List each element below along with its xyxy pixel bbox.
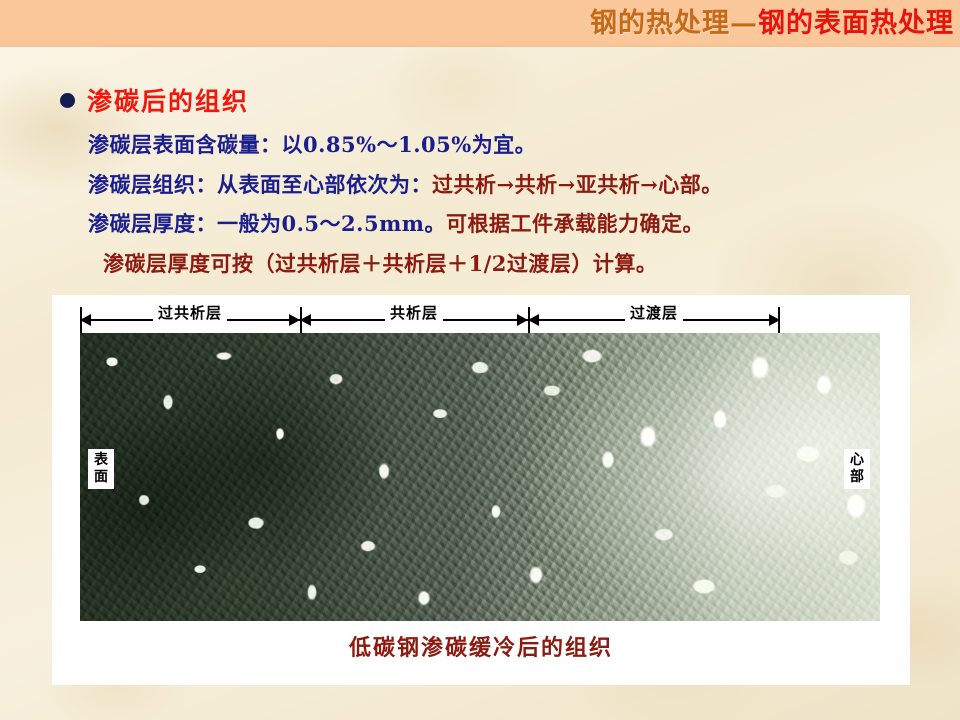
filled-circle-bullet-icon [60,93,75,108]
ruler-segment-hypereutectoid: 过共析层 [80,301,300,333]
micrograph-grain-overlay [80,333,880,621]
section-heading-label: 渗碳后的组织 [87,82,249,118]
micrograph-label-core-char2: 部 [846,469,868,486]
ruler-tick [300,307,302,333]
page-title-topic: 钢的热处理— [590,8,758,39]
body-line-4-red: 渗碳层厚度可按（过共析层＋共析层＋1/2过渡层）计算。 [103,251,657,276]
ruler-segment-eutectoid: 共析层 [300,301,528,333]
body-line-2: 渗碳层组织：从表面至心部依次为：过共析→共析→亚共析→心部。 [88,174,723,195]
body-line-1-blue: 渗碳层表面含碳量：以0.85%～1.05%为宜。 [88,132,536,157]
page-title: 钢的热处理—钢的表面热处理 [590,4,954,44]
section-heading: 渗碳后的组织 [60,82,249,118]
page-title-subtopic: 钢的表面热处理 [758,8,954,39]
micrograph-label-surface-char2: 面 [90,469,112,486]
body-line-3-blue: 渗碳层厚度：一般为0.5～2.5mm。 [88,211,446,236]
ruler-tick [528,307,530,333]
slide-header-band: 钢的热处理—钢的表面热处理 [0,0,960,47]
body-line-3-red: 可根据工件承载能力确定。 [446,211,704,236]
micrograph-image: 表 面 心 部 [80,333,880,621]
arrow-right-icon [289,314,300,326]
micrograph-label-surface-char1: 表 [90,452,112,469]
body-line-2-blue: 渗碳层组织：从表面至心部依次为： [88,172,432,197]
figure-panel: 过共析层 共析层 过渡层 表 [52,295,910,685]
ruler-segment-label: 共析层 [385,305,443,321]
layer-ruler: 过共析层 共析层 过渡层 [80,301,880,333]
body-line-4: 渗碳层厚度可按（过共析层＋共析层＋1/2过渡层）计算。 [103,253,657,274]
micrograph-label-surface: 表 面 [88,449,114,489]
ruler-tick [80,307,82,333]
slide-canvas: 钢的热处理—钢的表面热处理 渗碳后的组织 渗碳层表面含碳量：以0.85%～1.0… [0,0,960,720]
ruler-segment-label: 过渡层 [625,305,683,321]
ruler-segment-transition: 过渡层 [528,301,780,333]
ruler-tick [778,307,780,333]
ruler-segment-label: 过共析层 [153,305,227,321]
micrograph-label-core-char1: 心 [846,452,868,469]
micrograph-label-core: 心 部 [844,449,870,489]
body-line-2-red: 过共析→共析→亚共析→心部。 [432,172,723,197]
body-line-1: 渗碳层表面含碳量：以0.85%～1.05%为宜。 [88,134,536,155]
body-line-3: 渗碳层厚度：一般为0.5～2.5mm。可根据工件承载能力确定。 [88,213,704,234]
figure-caption: 低碳钢渗碳缓冷后的组织 [52,630,910,662]
arrow-right-icon [517,314,528,326]
